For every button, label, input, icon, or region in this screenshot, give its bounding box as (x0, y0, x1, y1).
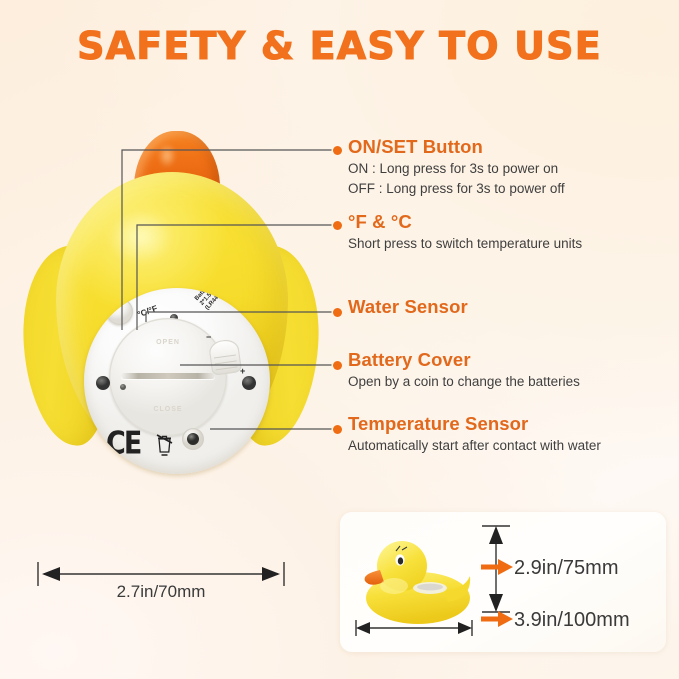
callout-water-sensor: Water Sensor (348, 296, 468, 318)
infographic-page: SAFETY & EASY TO USE ON/OFF °C/°F Batter… (0, 0, 679, 679)
callout-heading: Battery Cover (348, 349, 580, 371)
knob-line-1 (214, 354, 236, 358)
dimension-card: 2.9in/75mm 3.9in/100mm (340, 512, 666, 652)
dot-temperature-sensor (333, 425, 342, 434)
callout-heading: °F & °C (348, 211, 582, 233)
screw-right (242, 376, 256, 390)
dimension-front-width-label: 2.7in/70mm (36, 582, 286, 602)
coin-slot (121, 373, 215, 379)
knob-line-2 (215, 360, 237, 364)
callout-temperature-sensor: Temperature Sensor Automatically start a… (348, 413, 601, 455)
dimension-height-label: 2.9in/75mm (514, 557, 619, 580)
callout-desc-line-2: OFF : Long press for 3s to power off (348, 180, 565, 198)
callout-heading: ON/SET Button (348, 136, 565, 158)
knob-line-3 (216, 366, 238, 370)
battery-spec-label: Battery:2*1.5V(LR44) (194, 288, 225, 312)
weee-bin-icon (156, 434, 173, 456)
product-image-duck-side (356, 532, 476, 632)
callout-desc-line-1: Open by a coin to change the batteries (348, 373, 580, 391)
callout-heading: Temperature Sensor (348, 413, 601, 435)
duck-body-highlight (94, 198, 186, 276)
on-set-button[interactable] (106, 298, 133, 325)
control-panel: ON/OFF °C/°F Battery:2*1.5V(LR44) OPEN C… (84, 288, 270, 474)
callout-on-set: ON/SET Button ON : Long press for 3s to … (348, 136, 565, 197)
lid-close-text: CLOSE (109, 406, 227, 413)
callout-fahrenheit-celsius: °F & °C Short press to switch temperatur… (348, 211, 582, 253)
arrow-right-height-icon (480, 558, 514, 576)
celsius-fahrenheit-label: °C/°F (136, 303, 159, 319)
dimension-arrow-width (354, 618, 474, 638)
dot-fahrenheit-celsius (333, 221, 342, 230)
callout-heading: Water Sensor (348, 296, 468, 318)
battery-knob[interactable] (208, 338, 242, 376)
duck-beak-highlight (154, 142, 180, 176)
callout-desc-line-1: ON : Long press for 3s to power on (348, 160, 565, 178)
dimension-front-width: 2.7in/70mm (36, 560, 286, 620)
temperature-sensor-dome (182, 428, 204, 450)
plus-sign: + (240, 366, 245, 376)
callout-desc-line-1: Automatically start after contact with w… (348, 437, 601, 455)
minus-sign: − (206, 332, 211, 342)
screw-left (96, 376, 110, 390)
callout-battery-cover: Battery Cover Open by a coin to change t… (348, 349, 580, 391)
dot-battery-cover (333, 361, 342, 370)
dot-on-set (333, 146, 342, 155)
page-title: SAFETY & EASY TO USE (0, 24, 679, 68)
indicator-dot (120, 384, 126, 390)
dot-water-sensor (333, 308, 342, 317)
callout-desc-line-1: Short press to switch temperature units (348, 235, 582, 253)
arrow-right-width-icon (480, 610, 514, 628)
dimension-width-label: 3.9in/100mm (514, 609, 630, 632)
ce-mark-icon: CE (106, 426, 140, 462)
product-image-duck-back: ON/OFF °C/°F Battery:2*1.5V(LR44) OPEN C… (22, 128, 322, 473)
